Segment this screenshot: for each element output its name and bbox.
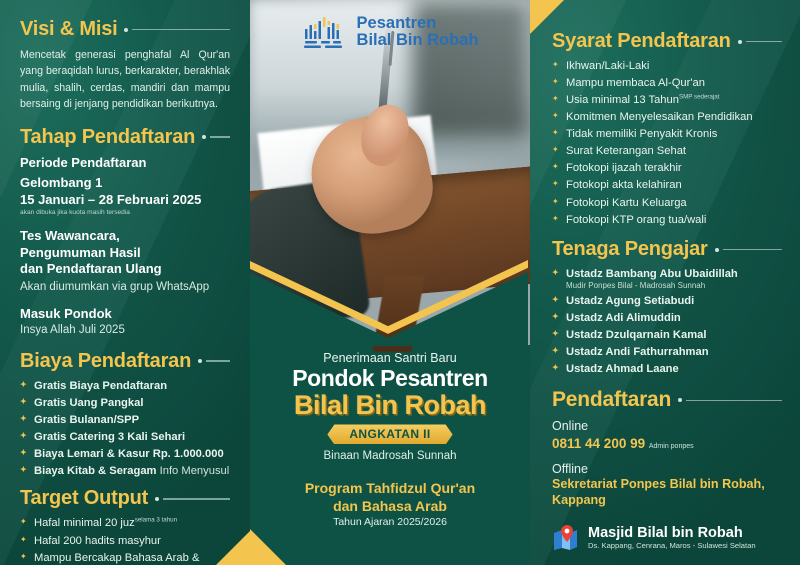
masjid-block: Masjid Bilal bin Robah Ds. Kappang, Cenr… (552, 524, 782, 552)
pendaftaran-title: Pendaftaran (552, 388, 671, 412)
hero-photo-area: Pesantren Bilal Bin Robah (250, 0, 530, 345)
syarat-list-item: Mampu membaca Al-Qur'an (552, 76, 782, 91)
syarat-list: Ikhwan/Laki-LakiMampu membaca Al-Qur'anU… (552, 59, 782, 227)
map-location-pin-icon (552, 524, 580, 552)
visi-misi-title: Visi & Misi (20, 18, 117, 41)
list-item-label: Biaya Kitab & Seragam (34, 465, 157, 477)
masjid-text: Masjid Bilal bin Robah Ds. Kappang, Cenr… (588, 525, 756, 552)
angkatan-badge: ANGKATAN II (327, 424, 452, 444)
list-item-label: Ustadz Dzulqarnain Kamal (566, 329, 707, 341)
masuk-pondok-note: Insya Allah Juli 2025 (20, 323, 230, 339)
tenaga-list-item: Ustadz Bambang Abu UbaidillahMudir Ponpe… (552, 267, 782, 291)
section-heading-tahap-pendaftaran: Tahap Pendaftaran (20, 126, 230, 149)
list-item-label: Gratis Catering 3 Kali Sehari (34, 431, 185, 443)
list-item-subtitle: Mudir Ponpes Bilal - Madrosah Sunnah (566, 281, 782, 291)
visi-misi-body: Mencetak generasi penghafal Al Qur'an ya… (20, 47, 230, 113)
list-item-superscript: selama 3 tahun (135, 517, 177, 524)
periode-title: Periode Pendaftaran (20, 155, 230, 172)
online-contact-block: Online 0811 44 200 99 Admin ponpes (552, 418, 782, 452)
heading-rule (155, 497, 230, 501)
logo-line-2: Bilal Bin Robah (357, 32, 479, 49)
heading-rule (715, 248, 782, 252)
program-line-1: Program Tahfidzul Qur'an (264, 480, 516, 497)
list-item-label: Fotokopi KTP orang tua/wali (566, 214, 706, 226)
offline-address-line-2: Kappang (552, 493, 782, 509)
left-panel: Visi & Misi Mencetak generasi penghafal … (0, 0, 250, 565)
offline-address-line-1: Sekretariat Ponpes Bilal bin Robah, (552, 477, 782, 493)
list-item-label: Fotokopi ijazah terakhir (566, 162, 682, 174)
logo: Pesantren Bilal Bin Robah (250, 0, 530, 58)
tes-line-3: dan Pendaftaran Ulang (20, 261, 230, 278)
program-line-2: dan Bahasa Arab (264, 498, 516, 515)
list-item-label: Mampu Bercakap Bahasa Arab & Membaca Kit… (34, 552, 199, 565)
biaya-list: Gratis Biaya PendaftaranGratis Uang Pang… (20, 379, 230, 479)
rule-line (210, 136, 230, 138)
offline-label: Offline (552, 461, 782, 477)
masjid-name: Masjid Bilal bin Robah (588, 525, 756, 542)
pre-title: Penerimaan Santri Baru (264, 351, 516, 365)
heading-rule (738, 40, 782, 44)
syarat-list-item: Tidak memiliki Penyakit Kronis (552, 127, 782, 142)
gelombang-note: akan dibuka jika kuota masih tersedia (20, 209, 230, 218)
center-panel: Pesantren Bilal Bin Robah Penerimaan San… (250, 0, 530, 565)
rule-line (723, 249, 782, 251)
gold-corner-triangle-bottom-left-panel (216, 531, 250, 565)
list-item-label: Mampu membaca Al-Qur'an (566, 77, 705, 89)
periode-block: Periode Pendaftaran Gelombang 1 15 Janua… (20, 155, 230, 217)
main-title-line-1: Pondok Pesantren (264, 366, 516, 391)
syarat-list-item: Fotokopi akta kelahiran (552, 178, 782, 193)
heading-rule (202, 135, 230, 139)
target-title: Target Output (20, 487, 148, 510)
list-item-label: Gratis Uang Pangkal (34, 397, 143, 409)
list-item-label: Hafal minimal 20 juz (34, 517, 135, 529)
section-heading-tenaga: Tenaga Pengajar (552, 238, 782, 261)
biaya-list-item: Gratis Uang Pangkal (20, 396, 230, 411)
section-heading-visi-misi: Visi & Misi (20, 18, 230, 41)
list-item-label: Ustadz Bambang Abu Ubaidillah (566, 268, 738, 280)
gelombang-label: Gelombang 1 (20, 175, 230, 192)
tes-line-1: Tes Wawancara, (20, 228, 230, 245)
section-heading-target-output: Target Output (20, 487, 230, 510)
rule-line (746, 41, 782, 43)
rule-dot-icon (198, 359, 202, 363)
list-item-label: Ustadz Andi Fathurrahman (566, 346, 709, 358)
heading-rule (198, 359, 230, 363)
masjid-address: Ds. Kappang, Cenrana, Maros - Sulawesi S… (588, 541, 756, 551)
list-item-label: Surat Keterangan Sehat (566, 145, 686, 157)
biaya-list-item: Biaya Kitab & Seragam Info Menyusul (20, 464, 230, 479)
main-title-line-2: Bilal Bin Robah (264, 391, 516, 420)
section-heading-syarat: Syarat Pendaftaran (552, 30, 782, 53)
target-list-item: Hafal 200 hadits masyhur (20, 534, 230, 549)
syarat-title: Syarat Pendaftaran (552, 30, 731, 53)
list-item-label: Ustadz Adi Alimuddin (566, 312, 681, 324)
tes-line-2: Pengumuman Hasil (20, 245, 230, 262)
tenaga-list-item: Ustadz Dzulqarnain Kamal (552, 328, 782, 343)
masuk-pondok-title: Masuk Pondok (20, 306, 230, 323)
right-panel: Syarat Pendaftaran Ikhwan/Laki-LakiMampu… (530, 0, 800, 565)
tenaga-list-item: Ustadz Ahmad Laane (552, 362, 782, 377)
list-item-label: Komitmen Menyelesaikan Pendidikan (566, 111, 753, 123)
biaya-list-item: Gratis Biaya Pendaftaran (20, 379, 230, 394)
tenaga-list-item: Ustadz Adi Alimuddin (552, 311, 782, 326)
syarat-list-item: Surat Keterangan Sehat (552, 144, 782, 159)
offline-contact-block: Offline Sekretariat Ponpes Bilal bin Rob… (552, 461, 782, 509)
biaya-list-item: Gratis Catering 3 Kali Sehari (20, 430, 230, 445)
online-phone-number: 0811 44 200 99 (552, 436, 645, 451)
tes-block: Tes Wawancara, Pengumuman Hasil dan Pend… (20, 228, 230, 295)
list-item-label: Hafal 200 hadits masyhur (34, 535, 161, 547)
syarat-list-item: Fotokopi Kartu Keluarga (552, 196, 782, 211)
rule-dot-icon (124, 28, 128, 32)
arabic-calligraphy-mosque-icon (302, 14, 348, 50)
list-item-label: Tidak memiliki Penyakit Kronis (566, 128, 717, 140)
biaya-list-item: Biaya Lemari & Kasur Rp. 1.000.000 (20, 447, 230, 462)
syarat-list-item: Fotokopi ijazah terakhir (552, 161, 782, 176)
list-item-superscript: SMP sederajat (679, 93, 719, 100)
logo-wordmark: Pesantren Bilal Bin Robah (357, 15, 479, 50)
gold-corner-triangle-bottom-center-panel (250, 529, 286, 565)
rule-dot-icon (202, 135, 206, 139)
rule-dot-icon (715, 248, 719, 252)
online-label: Online (552, 418, 782, 434)
tes-note: Akan diumumkan via grup WhatsApp (20, 280, 230, 296)
biaya-title: Biaya Pendaftaran (20, 350, 191, 373)
biaya-list-item: Gratis Bulanan/SPP (20, 413, 230, 428)
masuk-pondok-block: Masuk Pondok Insya Allah Juli 2025 (20, 306, 230, 338)
rule-line (206, 360, 230, 362)
heading-rule (678, 398, 782, 402)
gold-corner-triangle-top-right-panel (530, 0, 564, 34)
rule-line (163, 498, 230, 500)
heading-rule (124, 28, 230, 32)
online-phone[interactable]: 0811 44 200 99 Admin ponpes (552, 435, 782, 453)
syarat-list-item: Fotokopi KTP orang tua/wali (552, 213, 782, 228)
rule-dot-icon (738, 40, 742, 44)
section-heading-pendaftaran: Pendaftaran (552, 388, 782, 412)
rule-dot-icon (155, 497, 159, 501)
program-year: Tahun Ajaran 2025/2026 (264, 516, 516, 528)
rule-line (132, 29, 230, 31)
list-item-label: Fotokopi akta kelahiran (566, 179, 682, 191)
list-item-label: Ustadz Agung Setiabudi (566, 295, 694, 307)
binaan-text: Binaan Madrosah Sunnah (264, 450, 516, 462)
tahap-title: Tahap Pendaftaran (20, 126, 195, 149)
brochure-page: Visi & Misi Mencetak generasi penghafal … (0, 0, 800, 565)
tenaga-list-item: Ustadz Andi Fathurrahman (552, 345, 782, 360)
gelombang-date: 15 Januari – 28 Februari 2025 (20, 192, 230, 209)
list-item-label: Gratis Bulanan/SPP (34, 414, 139, 426)
tenaga-pengajar-list: Ustadz Bambang Abu UbaidillahMudir Ponpe… (552, 267, 782, 376)
target-output-list: Hafal minimal 20 juzselama 3 tahunHafal … (20, 516, 230, 565)
gold-chevron-frame (250, 226, 528, 346)
list-item-label: Biaya Lemari & Kasur Rp. 1.000.000 (34, 448, 224, 460)
online-phone-note: Admin ponpes (649, 443, 694, 450)
rule-dot-icon (678, 398, 682, 402)
list-item-label: Ikhwan/Laki-Laki (566, 60, 649, 72)
list-item-label: Fotokopi Kartu Keluarga (566, 197, 687, 209)
list-item-label: Usia minimal 13 Tahun (566, 94, 679, 106)
tenaga-list-item: Ustadz Agung Setiabudi (552, 294, 782, 309)
syarat-list-item: Komitmen Menyelesaikan Pendidikan (552, 110, 782, 125)
syarat-list-item: Usia minimal 13 TahunSMP sederajat (552, 93, 782, 108)
list-item-note: Info Menyusul (157, 465, 230, 477)
list-item-label: Ustadz Ahmad Laane (566, 363, 679, 375)
tenaga-title: Tenaga Pengajar (552, 238, 708, 261)
section-heading-biaya: Biaya Pendaftaran (20, 350, 230, 373)
center-headline-block: Penerimaan Santri Baru Pondok Pesantren … (250, 345, 530, 528)
list-item-label: Gratis Biaya Pendaftaran (34, 380, 167, 392)
target-list-item: Mampu Bercakap Bahasa Arab & Membaca Kit… (20, 551, 230, 565)
rule-line (686, 400, 782, 402)
syarat-list-item: Ikhwan/Laki-Laki (552, 59, 782, 74)
target-list-item: Hafal minimal 20 juzselama 3 tahun (20, 516, 230, 531)
logo-line-1: Pesantren (357, 15, 479, 32)
